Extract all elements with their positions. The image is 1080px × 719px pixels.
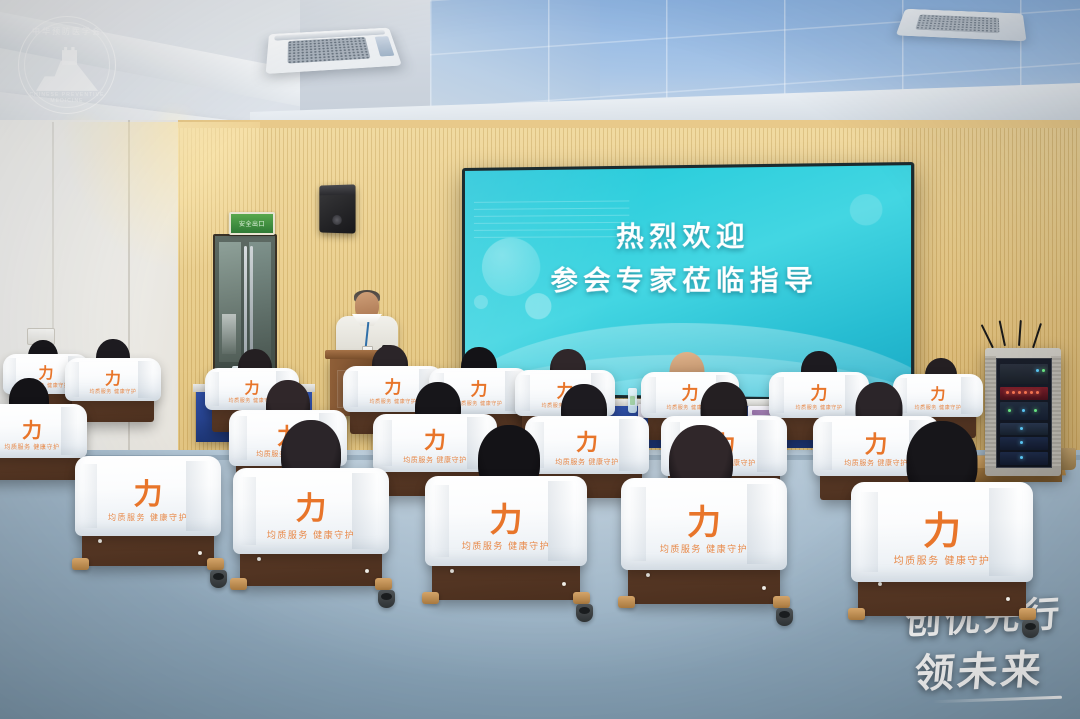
institute-seal-watermark: 中华预防医学会 CHINESE PREVENTIVE MEDICINE bbox=[18, 16, 116, 114]
chair-cover-slogan: 均质服务 健康守护 bbox=[851, 552, 1033, 567]
rack-unit bbox=[1000, 364, 1048, 384]
auditorium-seat[interactable]: 力均质服务 健康守护 bbox=[82, 470, 214, 566]
seat-cover: 力均质服务 健康守护 bbox=[65, 358, 161, 401]
chair-cover-logo: 力 bbox=[425, 503, 587, 536]
chair-cover-slogan: 均质服务 健康守护 bbox=[75, 512, 221, 523]
chair-cover-logo: 力 bbox=[525, 433, 649, 455]
seat-cover: 力均质服务 健康守护 bbox=[425, 476, 587, 566]
seat-armrest bbox=[72, 558, 89, 570]
chair-cover-slogan: 均质服务 健康守护 bbox=[621, 542, 787, 555]
seat-cover: 力均质服务 健康守护 bbox=[851, 482, 1033, 582]
chair-cover-slogan: 均质服务 健康守护 bbox=[525, 457, 649, 467]
seat-cover: 力均质服务 健康守护 bbox=[0, 404, 87, 458]
wall-speaker bbox=[319, 184, 355, 233]
seat-armrest bbox=[773, 596, 790, 608]
seat-cover: 力均质服务 健康守护 bbox=[75, 456, 221, 536]
ac-grille-icon bbox=[288, 37, 370, 64]
seat-cup-holder bbox=[1022, 620, 1039, 638]
seat-cover: 力均质服务 健康守护 bbox=[525, 416, 649, 474]
seat-cup-holder bbox=[776, 608, 793, 626]
auditorium-seat[interactable]: 力均质服务 健康守护 bbox=[0, 418, 80, 480]
seat-armrest bbox=[1019, 608, 1036, 620]
ac-grille-icon bbox=[916, 14, 1000, 33]
chair-cover-logo: 力 bbox=[893, 387, 983, 402]
great-wall-icon bbox=[36, 47, 98, 91]
rack-unit bbox=[1000, 402, 1048, 420]
chair-cover-slogan: 均质服务 健康守护 bbox=[233, 528, 389, 541]
seat-armrest bbox=[422, 592, 439, 604]
exit-sign: 安全出口 bbox=[229, 212, 275, 235]
auditorium-seat[interactable]: 力均质服务 健康守护 bbox=[240, 482, 382, 586]
seat-cover: 力均质服务 健康守护 bbox=[893, 374, 983, 417]
chair-cover-slogan: 均质服务 健康守护 bbox=[0, 442, 87, 451]
rack-glass-door[interactable] bbox=[996, 358, 1052, 468]
chair-cover-slogan: 均质服务 健康守护 bbox=[425, 539, 587, 552]
door-handle-icon[interactable] bbox=[250, 246, 253, 366]
auditorium-seat[interactable]: 力均质服务 健康守护 bbox=[432, 490, 580, 600]
seat-cover: 力均质服务 健康守护 bbox=[233, 468, 389, 554]
auditorium-seat[interactable]: 力均质服务 健康守护 bbox=[628, 492, 780, 604]
auditorium-seat[interactable]: 力均质服务 健康守护 bbox=[858, 496, 1026, 616]
conference-hall-photo: 安全出口 热烈欢迎 参会专家莅临指导 bbox=[0, 0, 1080, 719]
seat-armrest bbox=[848, 608, 865, 620]
seal-bottom-text: CHINESE PREVENTIVE MEDICINE bbox=[19, 92, 115, 104]
chair-cover-slogan: 均质服务 健康守护 bbox=[65, 388, 161, 395]
chair-cover-logo: 力 bbox=[621, 506, 787, 540]
chair-cover-logo: 力 bbox=[65, 371, 161, 387]
ceiling-ac-unit-left bbox=[266, 28, 402, 74]
speaker-driver-icon bbox=[332, 215, 342, 225]
av-equipment-rack bbox=[985, 348, 1061, 476]
rack-unit bbox=[1000, 387, 1048, 400]
seat-armrest bbox=[207, 558, 224, 570]
speaker-top-icon bbox=[319, 184, 355, 195]
chair-cover-slogan: 均质服务 健康守护 bbox=[893, 404, 983, 411]
seal-top-text: 中华预防医学会 bbox=[19, 26, 115, 37]
water-bottle bbox=[628, 388, 637, 413]
seat-armrest bbox=[618, 596, 635, 608]
seat-armrest bbox=[573, 592, 590, 604]
chair-cover-logo: 力 bbox=[233, 494, 389, 525]
chair-cover-slogan: 均质服务 健康守护 bbox=[769, 404, 869, 411]
rack-unit bbox=[1000, 452, 1048, 465]
rack-unit bbox=[1000, 437, 1048, 450]
door-glass-highlight bbox=[222, 314, 236, 354]
seat-cover: 力均质服务 健康守护 bbox=[621, 478, 787, 570]
exit-sign-label: 安全出口 bbox=[239, 219, 265, 228]
seat-armrest bbox=[375, 578, 392, 590]
chair-cover-logo: 力 bbox=[769, 386, 869, 403]
door-handle-icon[interactable] bbox=[244, 246, 247, 366]
chair-cover-logo: 力 bbox=[0, 420, 87, 440]
rack-vent-right bbox=[1051, 356, 1061, 468]
ac-side-vent-icon bbox=[375, 36, 395, 57]
seat-cover: 力均质服务 健康守护 bbox=[769, 372, 869, 418]
rack-unit bbox=[1000, 423, 1048, 435]
seat-cup-holder bbox=[378, 590, 395, 608]
seat-armrest bbox=[230, 578, 247, 590]
chair-cover-logo: 力 bbox=[851, 512, 1033, 550]
chair-cover-logo: 力 bbox=[75, 480, 221, 509]
seat-cup-holder bbox=[210, 570, 227, 588]
seat-cup-holder bbox=[576, 604, 593, 622]
rack-vent-left bbox=[985, 356, 996, 468]
